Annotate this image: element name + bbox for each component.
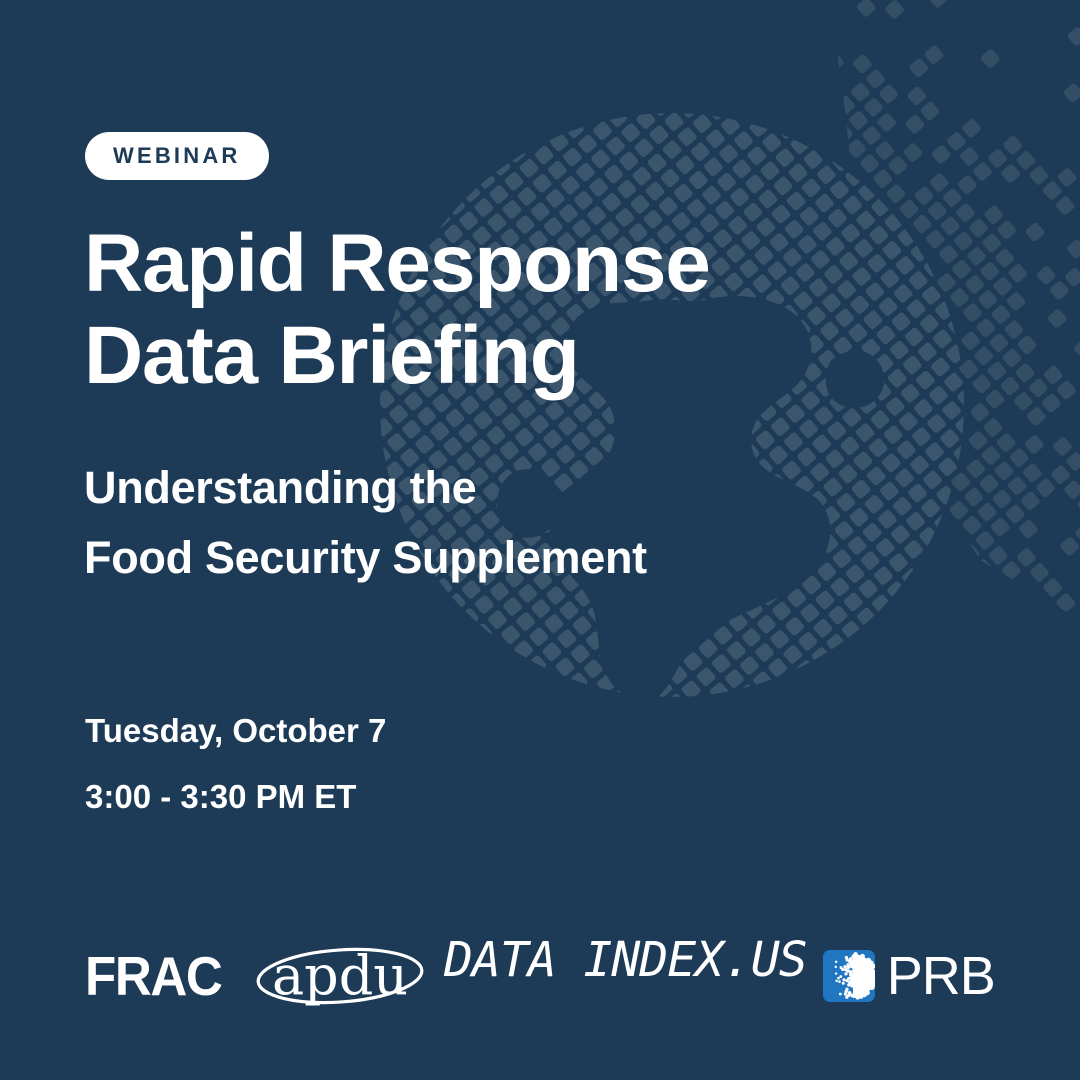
prb-logo-text: PRB: [887, 949, 995, 1003]
webinar-badge: WEBINAR: [85, 132, 269, 180]
page-subtitle: Understanding the Food Security Suppleme…: [84, 453, 804, 593]
headline-line-1: Rapid Response: [84, 218, 784, 310]
frac-logo-text: FRAC: [85, 949, 221, 1004]
apdu-logo-text: apdu: [272, 944, 408, 1007]
prb-globe-icon: [823, 950, 875, 1002]
subtitle-line-2: Food Security Supplement: [84, 523, 804, 593]
subtitle-line-1: Understanding the: [84, 453, 804, 523]
apdu-logo: apdu: [254, 938, 426, 1014]
partner-logo-bar: FRAC apdu DATA INDEX.US PRB: [0, 936, 1080, 1016]
event-time: 3:00 - 3:30 PM ET: [85, 764, 386, 830]
event-schedule: Tuesday, October 7 3:00 - 3:30 PM ET: [85, 698, 386, 830]
webinar-promo-card: WEBINAR Rapid Response Data Briefing Und…: [0, 0, 1080, 1080]
data-index-us-logo: DATA INDEX.US: [444, 936, 807, 1016]
headline-line-2: Data Briefing: [84, 310, 784, 402]
data-index-us-logo-text: DATA INDEX.US: [444, 936, 807, 984]
prb-logo: PRB: [823, 936, 995, 1016]
frac-logo: FRAC: [85, 936, 232, 1016]
event-date: Tuesday, October 7: [85, 698, 386, 764]
webinar-badge-label: WEBINAR: [113, 145, 241, 167]
page-title: Rapid Response Data Briefing: [84, 218, 784, 402]
